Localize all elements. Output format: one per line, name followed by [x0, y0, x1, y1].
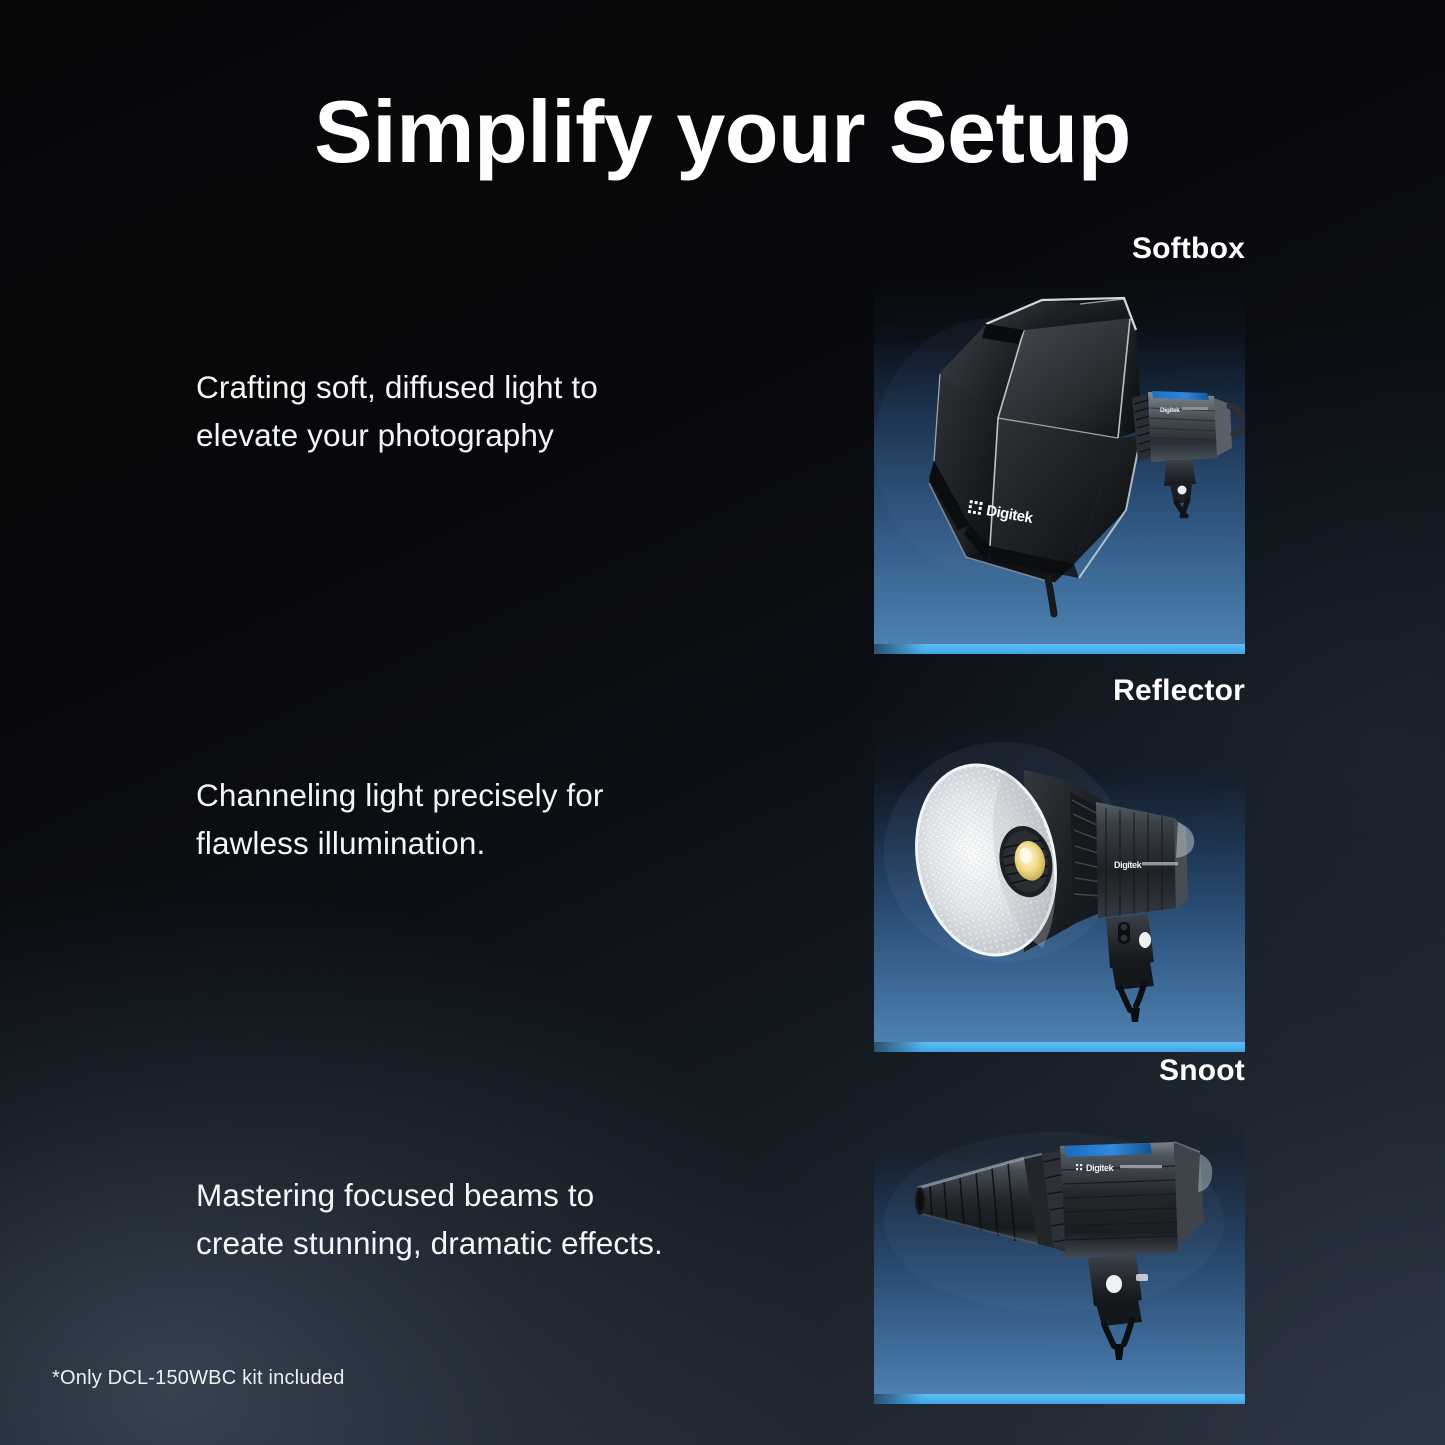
product-label-snoot: Snoot: [1159, 1054, 1245, 1088]
product-image-softbox: Digitek: [874, 278, 1245, 654]
page-title: Simplify your Setup: [0, 84, 1445, 181]
footnote-disclaimer: *Only DCL-150WBC kit included: [52, 1367, 345, 1390]
feature-description-softbox: Crafting soft, diffused light to elevate…: [196, 364, 756, 460]
product-label-softbox: Softbox: [1132, 232, 1245, 266]
product-image-reflector: Digitek: [874, 722, 1245, 1052]
product-image-snoot: Digitek: [874, 1102, 1245, 1404]
snoot-illustration: Digitek: [874, 1102, 1245, 1404]
svg-text:Digitek: Digitek: [1114, 860, 1143, 870]
led-light-head: Digitek: [1132, 391, 1244, 516]
product-label-reflector: Reflector: [1113, 674, 1245, 708]
svg-text:Digitek: Digitek: [1160, 407, 1180, 414]
feature-description-reflector: Channeling light precisely for flawless …: [196, 772, 756, 868]
reflector-illustration: Digitek: [874, 722, 1245, 1052]
svg-text:Digitek: Digitek: [1086, 1163, 1115, 1173]
promo-canvas: Simplify your Setup Crafting soft, diffu…: [0, 0, 1445, 1445]
softbox-illustration: Digitek: [874, 278, 1245, 654]
feature-description-snoot: Mastering focused beams to create stunni…: [196, 1172, 756, 1268]
